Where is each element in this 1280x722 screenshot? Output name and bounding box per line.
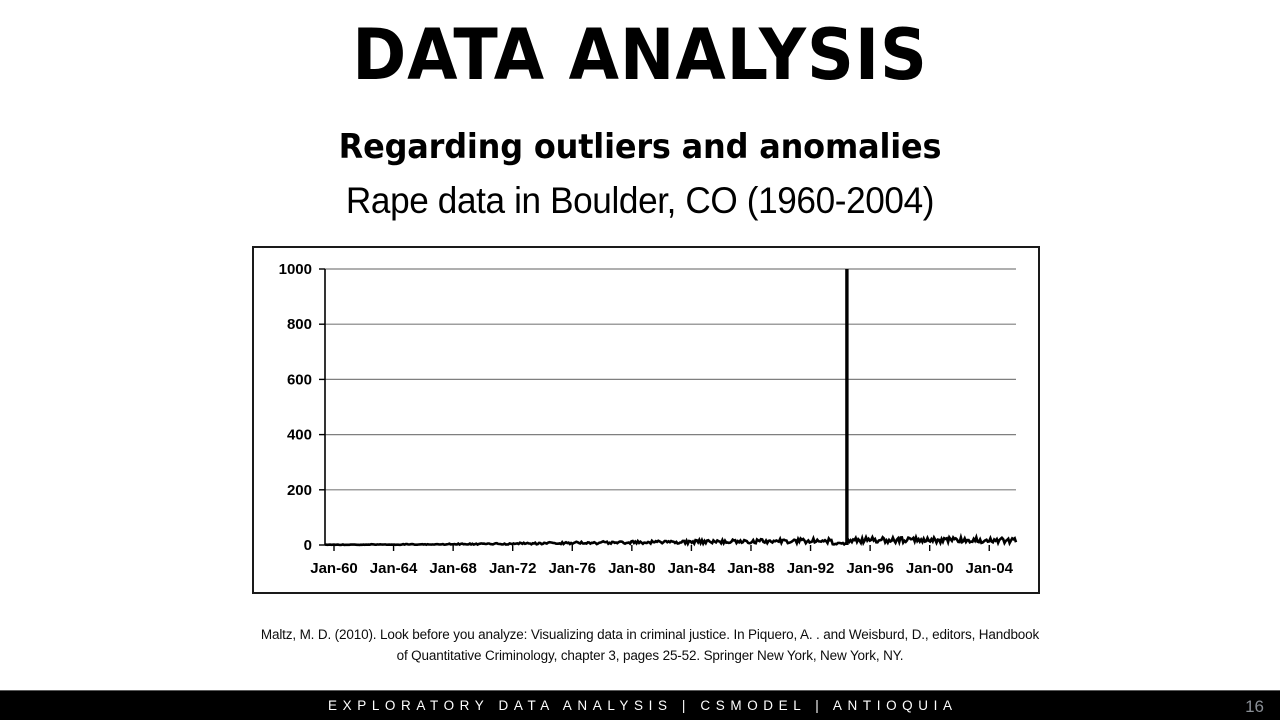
y-axis-tick-label: 600 [287, 371, 312, 388]
x-axis-tick-label: Jan-76 [549, 560, 597, 577]
y-axis-tick-label: 1000 [279, 261, 312, 278]
chart-outlier-spike [845, 269, 848, 545]
chart-x-axis-labels: Jan-60Jan-64Jan-68Jan-72Jan-76Jan-80Jan-… [310, 560, 1013, 577]
x-axis-tick-label: Jan-60 [310, 560, 358, 577]
x-axis-tick-label: Jan-00 [906, 560, 954, 577]
chart-y-axis-labels: 02004006008001000 [279, 261, 312, 554]
y-axis-tick-label: 200 [287, 482, 312, 499]
x-axis-tick-label: Jan-92 [787, 560, 835, 577]
page-number: 16 [1245, 691, 1264, 721]
page-title: DATA ANALYSIS [45, 16, 1235, 94]
x-axis-tick-label: Jan-04 [965, 560, 1013, 577]
chart-series-line [325, 537, 1016, 545]
footer-bar: EXPLORATORY DATA ANALYSIS | CSMODEL | AN… [0, 690, 1280, 720]
source-citation: Maltz, M. D. (2010). Look before you ana… [255, 624, 1045, 666]
time-series-chart: 02004006008001000 Jan-60Jan-64Jan-68Jan-… [254, 248, 1038, 592]
chart-y-tickmarks [319, 269, 325, 545]
subtitle-secondary: Rape data in Boulder, CO (1960-2004) [32, 178, 1248, 224]
y-axis-tick-label: 0 [304, 537, 312, 554]
x-axis-tick-label: Jan-96 [846, 560, 894, 577]
chart-container: 02004006008001000 Jan-60Jan-64Jan-68Jan-… [252, 246, 1040, 594]
x-axis-tick-label: Jan-80 [608, 560, 656, 577]
x-axis-tick-label: Jan-72 [489, 560, 537, 577]
chart-gridlines [325, 269, 1016, 490]
x-axis-tick-label: Jan-68 [429, 560, 477, 577]
footer-label: EXPLORATORY DATA ANALYSIS | CSMODEL | AN… [0, 691, 1280, 721]
x-axis-tick-label: Jan-84 [668, 560, 716, 577]
chart-x-tickmarks [334, 545, 989, 551]
y-axis-tick-label: 800 [287, 316, 312, 333]
x-axis-tick-label: Jan-88 [727, 560, 775, 577]
y-axis-tick-label: 400 [287, 427, 312, 444]
subtitle-primary: Regarding outliers and anomalies [38, 126, 1241, 168]
x-axis-tick-label: Jan-64 [370, 560, 418, 577]
